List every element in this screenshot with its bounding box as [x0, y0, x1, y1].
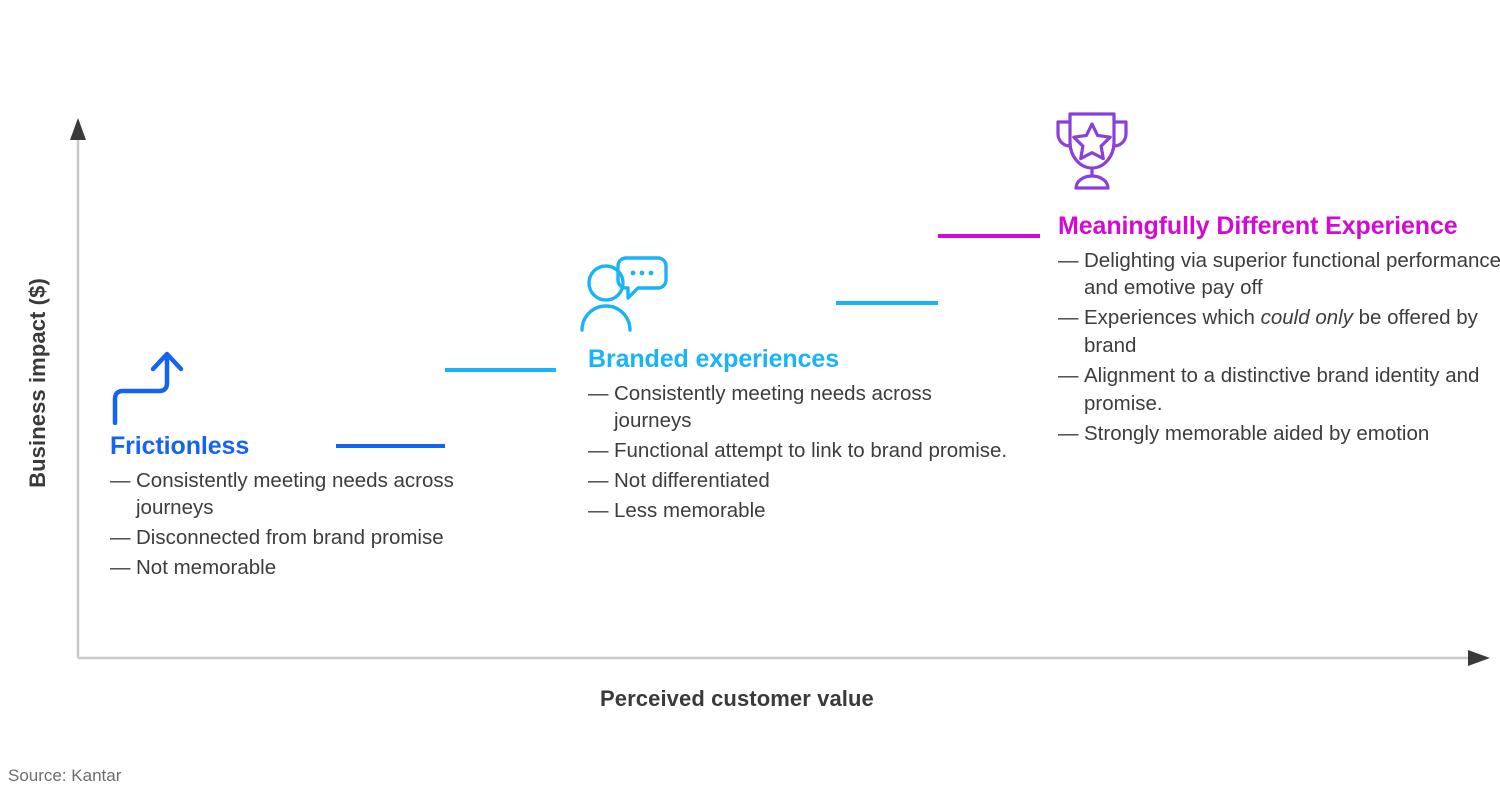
dash-bullet-icon: —: [1058, 420, 1079, 448]
y-axis: [70, 118, 86, 658]
tier-frictionless: Frictionless — Consistently meeting need…: [110, 432, 530, 584]
tier-branded-title: Branded experiences: [588, 345, 1008, 375]
list-item: — Disconnected from brand promise: [110, 524, 530, 552]
dash-bullet-icon: —: [1058, 304, 1079, 332]
list-item-label: Experiences which could only be offered …: [1084, 306, 1478, 357]
list-item-label: Strongly memorable aided by emotion: [1084, 422, 1429, 445]
list-item: — Not differentiated: [588, 467, 1008, 495]
list-item: — Alignment to a distinctive brand ident…: [1058, 362, 1500, 418]
list-item: — Experiences which could only be offere…: [1058, 304, 1500, 360]
tier-meaningfully-different-experience: Meaningfully Different Experience — Deli…: [1058, 212, 1500, 450]
slide-canvas: Business impact ($) Perceived customer v…: [0, 0, 1500, 800]
tier-frictionless-title: Frictionless: [110, 432, 530, 462]
dash-bullet-icon: —: [110, 467, 131, 495]
list-item-label: Not memorable: [136, 556, 276, 579]
list-item-label: Disconnected from brand promise: [136, 526, 444, 549]
x-axis-label: Perceived customer value: [600, 686, 874, 712]
tier-mde-bullets: — Delighting via superior functional per…: [1058, 247, 1500, 448]
person-speech-bubble-icon: [578, 250, 670, 337]
dash-bullet-icon: —: [1058, 362, 1079, 390]
dash-bullet-icon: —: [1058, 247, 1079, 275]
list-item: — Functional attempt to link to brand pr…: [588, 437, 1008, 465]
list-item-label: Alignment to a distinctive brand identit…: [1084, 364, 1479, 415]
source-note: Source: Kantar: [8, 766, 121, 786]
list-item-label: Less memorable: [614, 499, 766, 522]
trophy-icon: [1044, 108, 1140, 195]
tier-frictionless-bullets: — Consistently meeting needs across jour…: [110, 467, 530, 583]
list-item-label: Functional attempt to link to brand prom…: [614, 439, 1007, 462]
dash-bullet-icon: —: [588, 437, 609, 465]
list-item: — Consistently meeting needs across jour…: [588, 380, 1008, 436]
list-item: — Less memorable: [588, 497, 1008, 525]
y-axis-label: Business impact ($): [25, 253, 51, 513]
list-item-label: Consistently meeting needs across journe…: [136, 469, 454, 520]
list-item: — Not memorable: [110, 554, 530, 582]
list-item-label: Consistently meeting needs across journe…: [614, 382, 932, 433]
list-item: — Delighting via superior functional per…: [1058, 247, 1500, 303]
dash-bullet-icon: —: [588, 380, 609, 408]
dash-bullet-icon: —: [588, 467, 609, 495]
tier-branded-bullets: — Consistently meeting needs across jour…: [588, 380, 1008, 525]
dash-bullet-icon: —: [110, 524, 131, 552]
up-arrow-icon: [108, 345, 188, 430]
list-item: — Consistently meeting needs across jour…: [110, 467, 530, 523]
tier-mde-title: Meaningfully Different Experience: [1058, 212, 1500, 242]
list-item: — Strongly memorable aided by emotion: [1058, 420, 1500, 448]
x-axis: [78, 650, 1490, 666]
list-item-label: Not differentiated: [614, 469, 770, 492]
tier-branded-experiences: Branded experiences — Consistently meeti…: [588, 345, 1008, 527]
list-item-label: Delighting via superior functional perfo…: [1084, 249, 1500, 300]
dash-bullet-icon: —: [588, 497, 609, 525]
dash-bullet-icon: —: [110, 554, 131, 582]
